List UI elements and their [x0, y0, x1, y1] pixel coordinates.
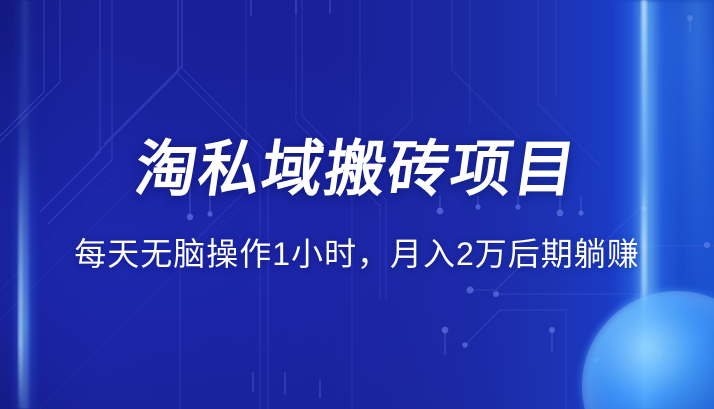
banner-title: 淘私域搬砖项目: [132, 139, 582, 200]
promo-banner: 淘私域搬砖项目 每天无脑操作1小时，月入2万后期躺赚: [0, 0, 714, 409]
banner-subtitle: 每天无脑操作1小时，月入2万后期躺赚: [74, 238, 640, 270]
banner-content: 淘私域搬砖项目 每天无脑操作1小时，月入2万后期躺赚: [0, 0, 714, 409]
